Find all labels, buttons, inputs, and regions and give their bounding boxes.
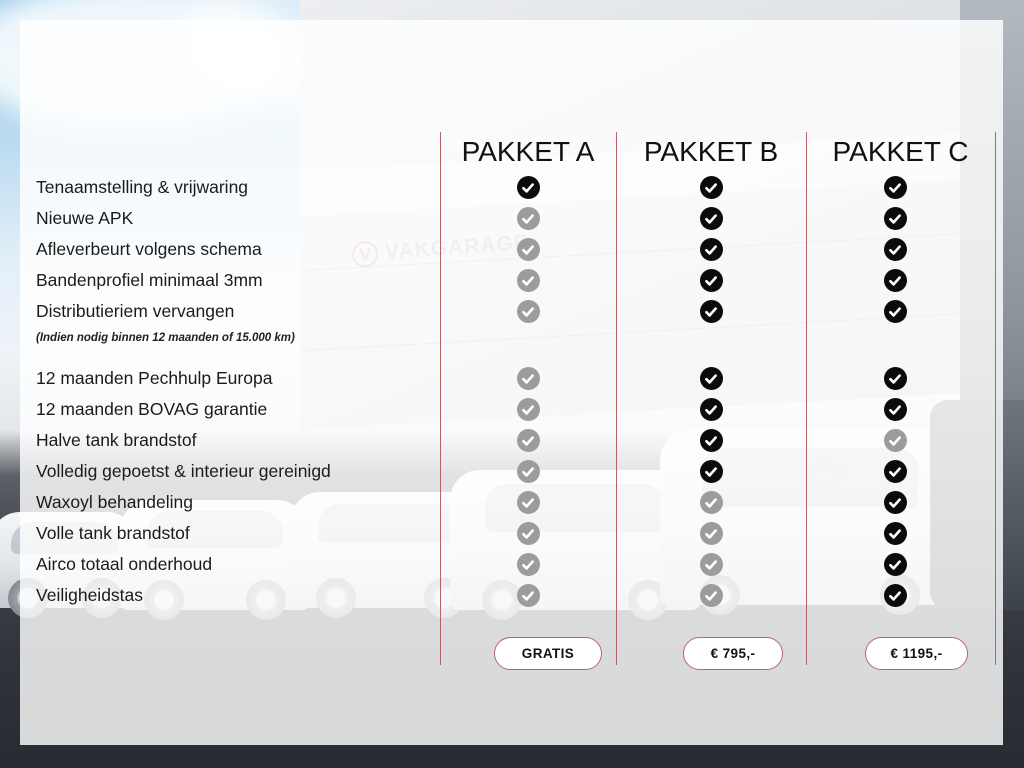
feature-label: Halve tank brandstof	[36, 425, 436, 456]
footnote-spacer	[865, 327, 925, 349]
check-excluded-icon	[700, 491, 723, 514]
column-divider	[806, 132, 807, 665]
check-cell	[865, 487, 925, 518]
check-included-icon	[700, 269, 723, 292]
check-included-icon	[700, 238, 723, 261]
check-cell	[681, 265, 741, 296]
check-excluded-icon	[700, 553, 723, 576]
check-cell	[498, 203, 558, 234]
check-excluded-icon	[517, 584, 540, 607]
column-divider	[616, 132, 617, 665]
price-badge-pakket-b[interactable]: € 795,-	[683, 637, 783, 670]
check-cell	[498, 456, 558, 487]
feature-label: Tenaamstelling & vrijwaring	[36, 172, 436, 203]
check-cell	[865, 203, 925, 234]
check-excluded-icon	[517, 398, 540, 421]
feature-label: 12 maanden BOVAG garantie	[36, 394, 436, 425]
check-included-icon	[884, 367, 907, 390]
check-included-icon	[884, 300, 907, 323]
feature-label: Volledig gepoetst & interieur gereinigd	[36, 456, 436, 487]
check-excluded-icon	[517, 491, 540, 514]
check-cell	[498, 234, 558, 265]
feature-label: Airco totaal onderhoud	[36, 549, 436, 580]
price-badge-pakket-a[interactable]: GRATIS	[494, 637, 602, 670]
check-included-icon	[700, 429, 723, 452]
feature-label: Nieuwe APK	[36, 203, 436, 234]
check-included-icon	[700, 176, 723, 199]
check-included-icon	[884, 491, 907, 514]
price-badge-pakket-c[interactable]: € 1195,-	[865, 637, 968, 670]
check-included-icon	[700, 367, 723, 390]
check-excluded-icon	[700, 584, 723, 607]
check-excluded-icon	[517, 238, 540, 261]
check-included-icon	[700, 207, 723, 230]
check-excluded-icon	[884, 429, 907, 452]
package-header-c: PAKKET C	[806, 132, 995, 172]
check-included-icon	[700, 460, 723, 483]
check-excluded-icon	[700, 522, 723, 545]
check-cell	[498, 425, 558, 456]
check-cell	[498, 487, 558, 518]
check-cell	[681, 296, 741, 327]
check-cell	[498, 296, 558, 327]
check-excluded-icon	[517, 367, 540, 390]
group-spacer	[36, 349, 436, 363]
feature-label: Afleverbeurt volgens schema	[36, 234, 436, 265]
check-column-pakket-c	[865, 172, 925, 611]
check-included-icon	[884, 460, 907, 483]
check-cell	[681, 518, 741, 549]
check-excluded-icon	[517, 207, 540, 230]
feature-label: Volle tank brandstof	[36, 518, 436, 549]
check-cell	[681, 234, 741, 265]
check-cell	[681, 580, 741, 611]
feature-footnote: (Indien nodig binnen 12 maanden of 15.00…	[36, 327, 436, 349]
column-divider	[995, 132, 996, 665]
check-included-icon	[884, 398, 907, 421]
check-cell	[681, 394, 741, 425]
check-included-icon	[884, 269, 907, 292]
check-cell	[865, 580, 925, 611]
check-column-pakket-b	[681, 172, 741, 611]
package-comparison-table: PAKKET A PAKKET B PAKKET C Tenaamstellin…	[20, 20, 1003, 745]
footnote-spacer	[498, 327, 558, 349]
check-cell	[681, 172, 741, 203]
content-overlay-panel: PAKKET A PAKKET B PAKKET C Tenaamstellin…	[20, 20, 1003, 745]
check-cell	[498, 363, 558, 394]
check-included-icon	[517, 176, 540, 199]
package-header-b: PAKKET B	[616, 132, 806, 172]
check-cell	[498, 172, 558, 203]
check-cell	[865, 172, 925, 203]
feature-label: Bandenprofiel minimaal 3mm	[36, 265, 436, 296]
check-included-icon	[884, 584, 907, 607]
check-cell	[865, 549, 925, 580]
check-included-icon	[884, 176, 907, 199]
feature-label-list: Tenaamstelling & vrijwaring Nieuwe APK A…	[36, 172, 436, 611]
group-spacer	[865, 349, 925, 363]
footnote-spacer	[681, 327, 741, 349]
check-cell	[865, 234, 925, 265]
check-excluded-icon	[517, 269, 540, 292]
check-included-icon	[700, 398, 723, 421]
feature-label: 12 maanden Pechhulp Europa	[36, 363, 436, 394]
check-excluded-icon	[517, 553, 540, 576]
check-cell	[681, 487, 741, 518]
check-cell	[681, 203, 741, 234]
column-divider	[440, 132, 441, 665]
check-included-icon	[884, 522, 907, 545]
check-excluded-icon	[517, 522, 540, 545]
check-cell	[498, 394, 558, 425]
feature-label: Waxoyl behandeling	[36, 487, 436, 518]
check-cell	[681, 425, 741, 456]
check-cell	[865, 394, 925, 425]
check-cell	[865, 518, 925, 549]
check-cell	[681, 363, 741, 394]
check-cell	[865, 425, 925, 456]
feature-label: Veiligheidstas	[36, 580, 436, 611]
check-cell	[498, 518, 558, 549]
check-cell	[865, 456, 925, 487]
check-excluded-icon	[517, 429, 540, 452]
check-cell	[681, 549, 741, 580]
check-excluded-icon	[517, 300, 540, 323]
group-spacer	[498, 349, 558, 363]
check-included-icon	[884, 553, 907, 576]
group-spacer	[681, 349, 741, 363]
check-cell	[865, 265, 925, 296]
check-cell	[865, 296, 925, 327]
check-cell	[681, 456, 741, 487]
check-cell	[498, 265, 558, 296]
check-excluded-icon	[517, 460, 540, 483]
check-cell	[498, 549, 558, 580]
package-header-a: PAKKET A	[440, 132, 616, 172]
check-column-pakket-a	[498, 172, 558, 611]
feature-label: Distributieriem vervangen	[36, 296, 436, 327]
check-cell	[865, 363, 925, 394]
check-included-icon	[884, 207, 907, 230]
check-cell	[498, 580, 558, 611]
check-included-icon	[700, 300, 723, 323]
check-included-icon	[884, 238, 907, 261]
